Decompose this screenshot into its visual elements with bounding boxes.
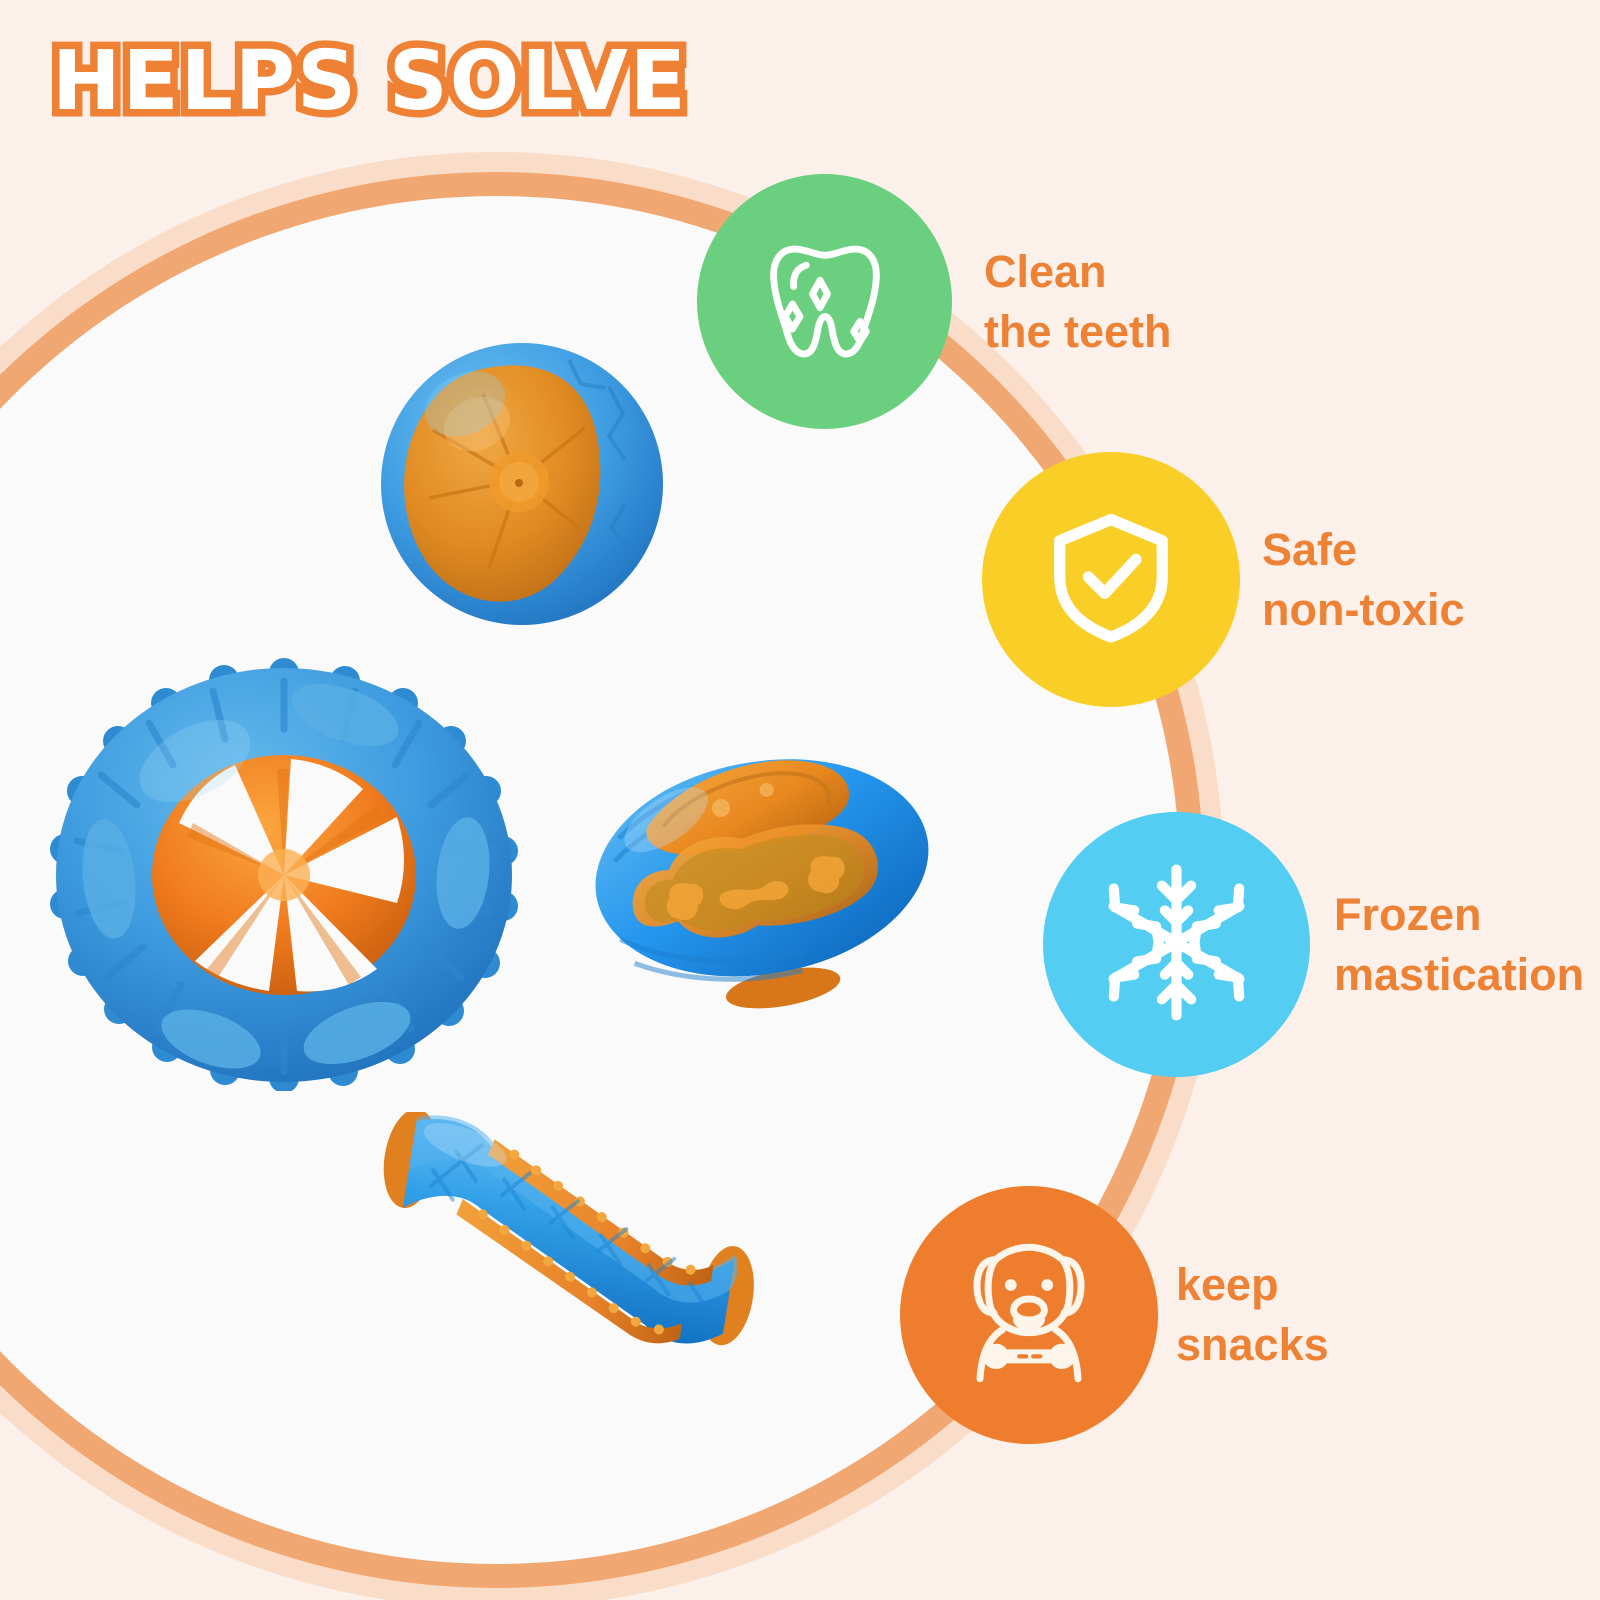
badge-safe-non-toxic [982, 452, 1240, 707]
feature-label-clean-the-teeth: Clean the teeth [984, 242, 1172, 362]
shield-check-icon [1036, 502, 1186, 657]
dog-with-bone-icon [945, 1229, 1113, 1402]
feature-frozen-mastication[interactable]: Frozen mastication [1043, 812, 1584, 1077]
product-textured-chew-ball [373, 332, 671, 630]
feature-keep-snacks[interactable]: keep snacks [900, 1186, 1329, 1444]
tooth-sparkle-icon [750, 224, 900, 379]
badge-clean-the-teeth [697, 174, 952, 429]
feature-safe-non-toxic[interactable]: Safe non-toxic [982, 452, 1464, 707]
feature-label-safe-non-toxic: Safe non-toxic [1262, 520, 1464, 640]
feature-label-keep-snacks: keep snacks [1176, 1255, 1329, 1375]
feature-label-frozen-mastication: Frozen mastication [1334, 885, 1584, 1005]
product-treat-dispenser-football [566, 718, 956, 1018]
product-bone-chew-stick [357, 1112, 779, 1352]
snowflake-icon [1089, 855, 1264, 1035]
badge-frozen-mastication [1043, 812, 1310, 1077]
infographic-canvas: HELPS SOLVE [0, 0, 1600, 1600]
page-title: HELPS SOLVE [52, 34, 688, 129]
badge-keep-snacks [900, 1186, 1158, 1444]
product-tire-chew-toy [45, 651, 523, 1091]
feature-clean-the-teeth[interactable]: Clean the teeth [697, 174, 1172, 429]
